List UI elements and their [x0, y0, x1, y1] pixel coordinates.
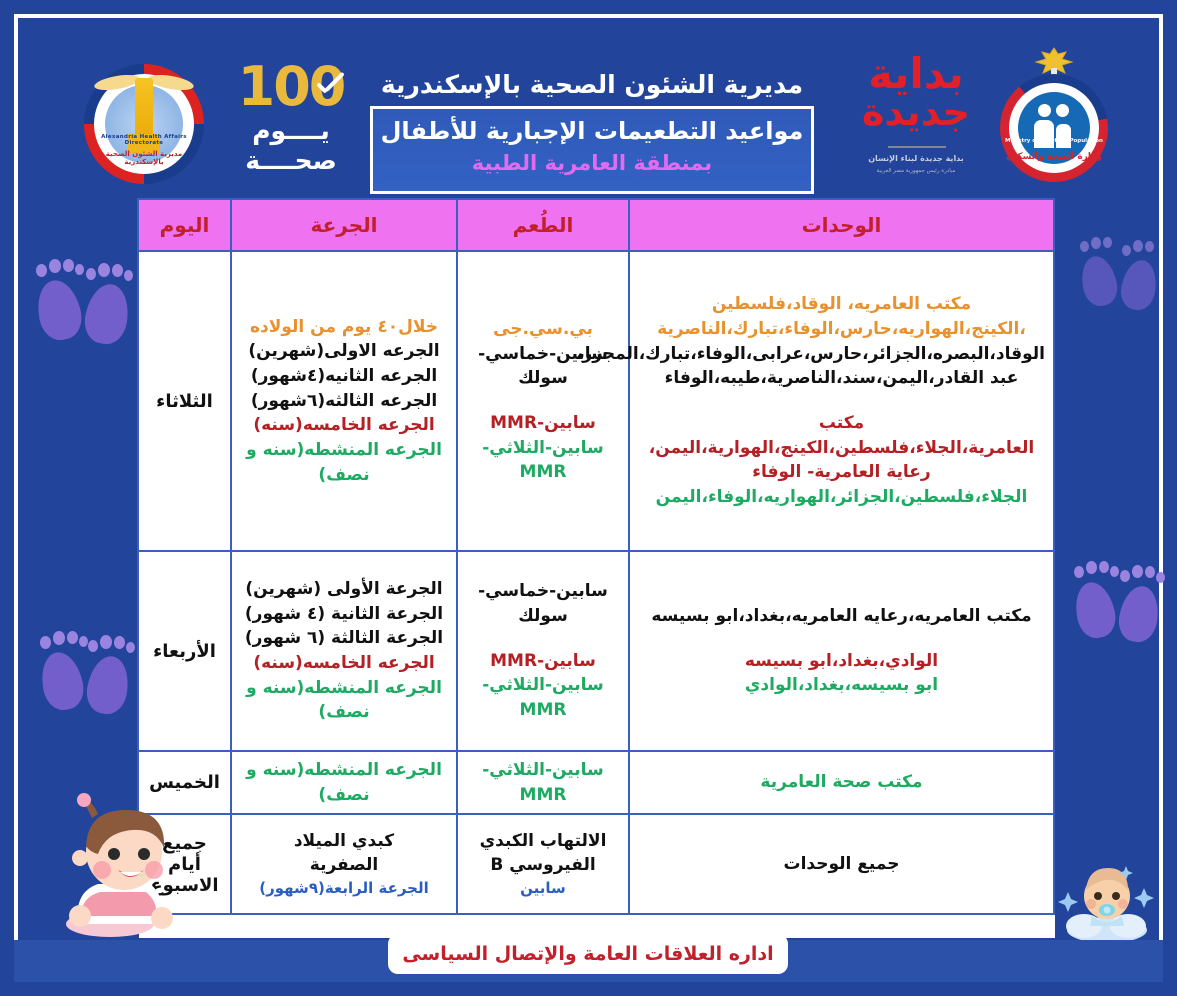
100-days-of-health-logo: 100 يــــوم صحــــة: [226, 54, 356, 189]
column-header-dose: الجرعة: [231, 199, 457, 251]
cell-line: مكتب صحة العامرية: [638, 770, 1045, 795]
cell-spacer: [638, 391, 1045, 411]
cell-units: جميع الوحدات: [629, 814, 1054, 914]
baby-on-cloud-illustration: [1052, 852, 1162, 944]
cell-spacer: [466, 629, 620, 649]
cell-vaccine: سابين-الثلاثي-MMR: [457, 751, 629, 814]
cell-line: سابين-خماسي-سولك: [466, 579, 620, 628]
cell-vaccine: بي.سي.جىسابين-خماسي-سولكسابين-MMRسابين-ا…: [457, 251, 629, 551]
cell-day: الثلاثاء: [138, 251, 231, 551]
hundred-days-word-two: صحــــة: [226, 146, 356, 175]
footprints-left-upper: [28, 258, 148, 368]
cell-line: الجرعة الأولى (شهرين): [240, 577, 448, 602]
alexandria-health-directorate-logo: Alexandria Health Affairs Directorate مد…: [78, 50, 210, 190]
main-title-box: مواعيد التطعيمات الإجبارية للأطفال بمنطق…: [370, 106, 814, 194]
column-header-day: اليوم: [138, 199, 231, 251]
footer-text: اداره العلاقات العامة والإتصال السياسى: [402, 943, 773, 965]
check-icon: [310, 68, 350, 108]
cell-line: الجرعه الثالثه(٦شهور): [240, 389, 448, 414]
cell-line: الفيروسي B: [466, 853, 620, 878]
cell-line: سابين-الثلاثي-MMR: [466, 758, 620, 807]
page-title: مواعيد التطعيمات الإجبارية للأطفال: [373, 117, 811, 145]
vaccination-schedule-table: الوحدات الطُعم الجرعة اليوم مكتب العامري…: [137, 198, 1055, 915]
organization-title: مديرية الشئون الصحية بالإسكندرية: [356, 70, 828, 99]
cell-units: مكتب صحة العامرية: [629, 751, 1054, 814]
cell-line: سابين: [466, 878, 620, 900]
cell-line: سابين-MMR: [466, 649, 620, 674]
cell-spacer: [466, 391, 620, 411]
footprints-right-upper: [1074, 236, 1164, 326]
new-beginning-subtitle-two: مبادرة رئيس جمهورية مصر العربية: [858, 168, 974, 174]
footprints-right: [1068, 560, 1177, 670]
cell-line: الوقاد،البصره،الجزائر،حارس،عرابى،الوفاء،…: [638, 342, 1045, 391]
cell-day: الأربعاء: [138, 551, 231, 751]
column-header-units: الوحدات: [629, 199, 1054, 251]
poster-root: Alexandria Health Affairs Directorate مد…: [0, 0, 1177, 996]
column-header-vaccine: الطُعم: [457, 199, 629, 251]
cell-units: مكتب العامريه،رعايه العامريه،بغداد،ابو ب…: [629, 551, 1054, 751]
new-beginning-line-one: بداية: [858, 54, 974, 94]
cell-dose: الجرعه المنشطه(سنه و نصف): [231, 751, 457, 814]
crawling-baby-girl-illustration: [58, 792, 198, 942]
cell-line: مكتب العامرية،الجلاء،فلسطين،الكينج،الهوا…: [638, 411, 1045, 485]
cell-line: الجرعه الخامسه(سنه): [240, 413, 448, 438]
cell-dose: خلال٤٠ يوم من الولادهالجرعه الاولى(شهرين…: [231, 251, 457, 551]
new-beginning-line-two: جديدة: [858, 90, 974, 134]
cell-vaccine: سابين-خماسي-سولكسابين-MMRسابين-الثلاثي-M…: [457, 551, 629, 751]
cell-line: الجرعه المنشطه(سنه و نصف): [240, 676, 448, 725]
cell-line: الجرعه المنشطه(سنه و نصف): [240, 438, 448, 487]
alexandria-logo-arabic: مديرية الشئون الصحية بالإسكندرية: [86, 150, 202, 166]
cell-line: سابين-خماسي-سولك: [466, 342, 620, 391]
cell-line: الجرعة الثالثة (٦ شهور): [240, 626, 448, 651]
hundred-days-word-one: يــــوم: [226, 116, 356, 145]
footprints-left-lower: [32, 630, 152, 740]
cell-line: سابين-الثلاثي-MMR: [466, 673, 620, 722]
vaccination-schedule-table-wrapper: الوحدات الطُعم الجرعة اليوم مكتب العامري…: [139, 198, 1055, 938]
footer-pill: اداره العلاقات العامة والإتصال السياسى: [388, 934, 788, 974]
cell-line: الالتهاب الكبدي: [466, 829, 620, 854]
cell-line: ،الكينج،الهواريه،حارس،الوفاء،تبارك،الناص…: [638, 317, 1045, 342]
cell-line: خلال٤٠ يوم من الولاده: [240, 315, 448, 340]
cell-line: الجرعه الخامسه(سنه): [240, 651, 448, 676]
table-header-row: الوحدات الطُعم الجرعة اليوم: [138, 199, 1054, 251]
table-row: جميع الوحداتالالتهاب الكبديالفيروسي Bساب…: [138, 814, 1054, 914]
cell-line: سابين-MMR: [466, 411, 620, 436]
cell-dose: الجرعة الأولى (شهرين)الجرعة الثانية (٤ ش…: [231, 551, 457, 751]
cell-line: جميع الوحدات: [638, 852, 1045, 877]
cell-line: الجرعه الاولى(شهرين): [240, 339, 448, 364]
poster-header: Alexandria Health Affairs Directorate مد…: [0, 18, 1177, 188]
cell-line: الوادي،بغداد،ابو بسيسه: [638, 649, 1045, 674]
cell-line: الجرعة الثانية (٤ شهور): [240, 602, 448, 627]
cell-line: كبدي الميلاد: [240, 829, 448, 854]
cell-dose: كبدي الميلادالصفريةالجرعة الرابعة(٩شهور): [231, 814, 457, 914]
table-row: مكتب صحة العامريةسابين-الثلاثي-MMRالجرعه…: [138, 751, 1054, 814]
cell-line: الجلاء،فلسطين،الجزائر،الهواريه،الوفاء،ال…: [638, 485, 1045, 510]
ministry-logo-english: Ministry of Health & Population: [1004, 138, 1104, 144]
cell-line: الجرعة الرابعة(٩شهور): [240, 878, 448, 900]
table-row: مكتب العامريه، الوقاد،فلسطين،الكينج،الهو…: [138, 251, 1054, 551]
table-body: مكتب العامريه، الوقاد،فلسطين،الكينج،الهو…: [138, 251, 1054, 914]
page-subtitle: بمنطقة العامرية الطبية: [373, 151, 811, 175]
alexandria-logo-english: Alexandria Health Affairs Directorate: [86, 134, 202, 146]
cell-line: الصفرية: [240, 853, 448, 878]
ministry-of-health-and-population-logo: Ministry of Health & Population وزارة ال…: [994, 46, 1114, 194]
cell-vaccine: الالتهاب الكبديالفيروسي Bسابين: [457, 814, 629, 914]
new-beginning-subtitle: بداية جديدة لبناء الإنسان: [858, 154, 974, 163]
cell-line: ابو بسيسه،بغداد،الوادي: [638, 673, 1045, 698]
ministry-logo-arabic: وزارة الصحة والسكان: [1004, 152, 1104, 162]
cell-line: بي.سي.جى: [466, 317, 620, 342]
new-beginning-initiative-logo: بداية جديدة بداية جديدة لبناء الإنسان مب…: [858, 54, 974, 194]
cell-line: الجرعه المنشطه(سنه و نصف): [240, 758, 448, 807]
cell-line: مكتب العامريه،رعايه العامريه،بغداد،ابو ب…: [638, 604, 1045, 629]
cell-spacer: [638, 629, 1045, 649]
cell-line: سابين-الثلاثي-MMR: [466, 436, 620, 485]
table-row: مكتب العامريه،رعايه العامريه،بغداد،ابو ب…: [138, 551, 1054, 751]
cell-line: الجرعه الثانيه(٤شهور): [240, 364, 448, 389]
cell-line: مكتب العامريه، الوقاد،فلسطين: [638, 292, 1045, 317]
cell-units: مكتب العامريه، الوقاد،فلسطين،الكينج،الهو…: [629, 251, 1054, 551]
